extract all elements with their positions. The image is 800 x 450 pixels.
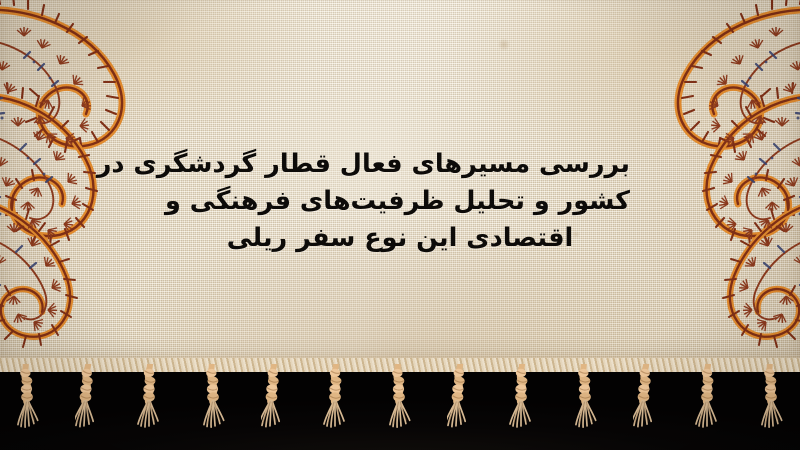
slide-title: بررسی مسیرهای فعال قطار گردشگری در کشور … xyxy=(170,146,630,257)
tassel xyxy=(695,364,721,444)
title-card-canvas: بررسی مسیرهای فعال قطار گردشگری در کشور … xyxy=(0,0,800,450)
tassel-fringe-band xyxy=(0,358,800,450)
title-line-3: اقتصادی این نوع سفر ریلی xyxy=(170,220,630,257)
tassel xyxy=(633,364,659,444)
tassel xyxy=(447,364,473,444)
tassel xyxy=(385,364,411,444)
tassel xyxy=(75,364,101,444)
tassel xyxy=(509,364,535,444)
tassel xyxy=(323,364,349,444)
tassel xyxy=(13,364,39,444)
tassel xyxy=(199,364,225,444)
title-line-1: بررسی مسیرهای فعال قطار گردشگری در xyxy=(170,146,630,183)
tassel xyxy=(137,364,163,444)
title-line-2: کشور و تحلیل ظرفیت‌های فرهنگی و xyxy=(170,183,630,220)
tassel xyxy=(757,364,783,444)
tassel xyxy=(261,364,287,444)
tassel xyxy=(571,364,597,444)
